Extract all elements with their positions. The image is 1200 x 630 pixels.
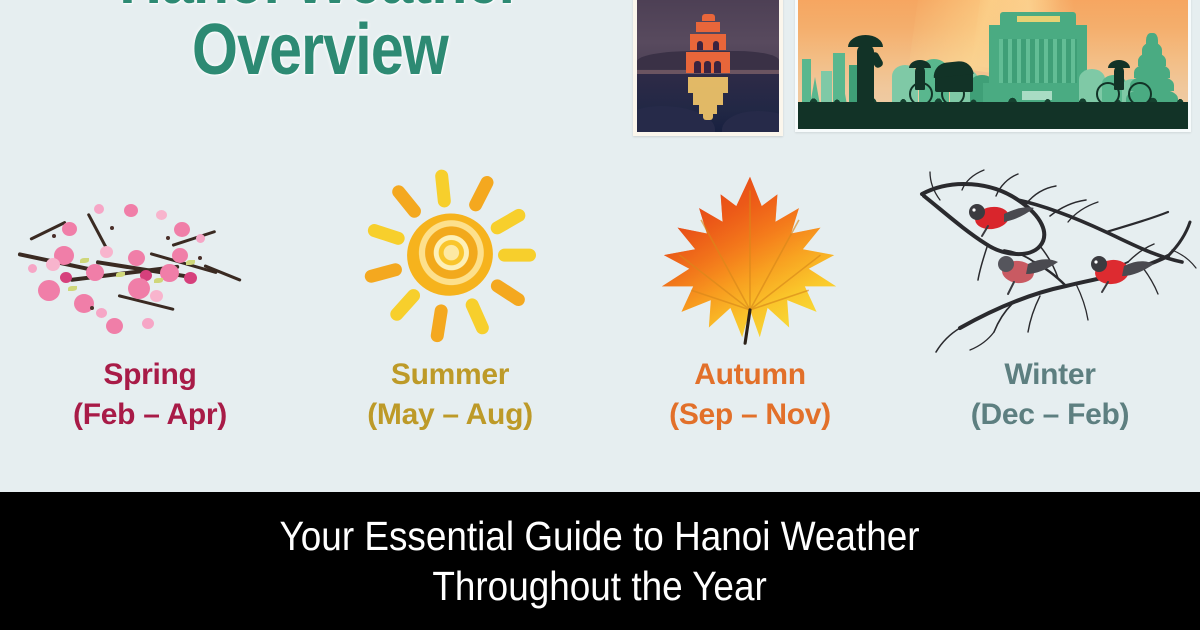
wheel — [1128, 82, 1152, 106]
cyclist-body — [1114, 66, 1124, 90]
season-summer: Summer (May – Aug) — [300, 160, 600, 492]
bud — [52, 234, 56, 238]
season-name: Winter — [1004, 358, 1095, 391]
season-label-autumn: Autumn (Sep – Nov) — [669, 355, 831, 434]
season-months: (Feb – Apr) — [73, 395, 227, 435]
mausoleum-columns — [999, 39, 1077, 83]
poster-title-line-2: Overview — [74, 15, 566, 86]
leaf — [68, 286, 77, 291]
cyclist-figure — [1094, 60, 1156, 106]
sun-ray — [488, 276, 527, 308]
reflection-band — [703, 114, 713, 120]
conical-hat-icon — [909, 60, 931, 68]
blossom — [106, 318, 123, 334]
blossom — [142, 318, 154, 329]
blossom — [60, 272, 72, 283]
conical-hat-icon — [1108, 60, 1130, 68]
season-name: Summer — [391, 358, 509, 391]
hanoi-skyline-illustration — [795, 0, 1191, 132]
season-months: (May – Aug) — [367, 395, 533, 435]
painted-sun — [366, 170, 534, 338]
winter-branch-birds-icon — [900, 160, 1200, 355]
tower-level-2 — [690, 34, 726, 50]
sun-ray — [467, 173, 496, 213]
skyline-scene — [798, 0, 1188, 129]
foreground-ground — [798, 102, 1188, 129]
blossom — [128, 278, 150, 299]
branch — [29, 221, 66, 241]
cherry-blossom-branch-icon — [0, 160, 300, 355]
sun-ray — [430, 303, 449, 343]
caption-line-1: Your Essential Guide to Hanoi Weather — [280, 513, 920, 559]
blossom — [184, 272, 197, 284]
season-months: (Dec – Feb) — [971, 395, 1129, 435]
season-spring: Spring (Feb – Apr) — [0, 160, 300, 492]
sun-ray — [464, 296, 491, 336]
leaf — [186, 260, 195, 265]
tower-window — [697, 41, 703, 50]
pagoda-tier — [1146, 33, 1158, 45]
seasons-row: Spring (Feb – Apr) — [0, 160, 1200, 492]
branch — [203, 264, 241, 282]
leaf — [154, 278, 163, 283]
reflection-band — [699, 105, 717, 114]
tower-arch — [704, 61, 711, 73]
blossom — [100, 246, 113, 258]
blossom — [128, 250, 145, 266]
bud — [90, 306, 94, 310]
tower-arch — [714, 61, 721, 73]
ao-dai-woman-figure — [857, 44, 874, 106]
tower-reflection — [686, 77, 730, 120]
bullfinch-bird — [1091, 256, 1154, 292]
season-months: (Sep – Nov) — [669, 395, 831, 435]
maple-leaf-shape — [650, 165, 850, 351]
sun-ray — [363, 261, 403, 283]
hanoi-weather-poster: Hanoi Weather Overview — [0, 0, 1200, 630]
blossom — [94, 204, 104, 214]
blossom — [174, 222, 190, 237]
blossom — [74, 294, 94, 313]
blossom — [46, 258, 60, 271]
season-name: Spring — [103, 358, 196, 391]
caption-bar: Your Essential Guide to Hanoi Weather Th… — [0, 492, 1200, 630]
caption-text: Your Essential Guide to Hanoi Weather Th… — [244, 511, 956, 611]
cyclo-driver — [915, 66, 925, 90]
leaf — [116, 272, 125, 277]
blossom — [86, 264, 104, 281]
maple-leaf — [650, 165, 850, 351]
sun-icon — [300, 160, 600, 355]
blossom-composition — [0, 160, 300, 355]
mausoleum-plaque — [1017, 16, 1060, 22]
sun-ray — [388, 286, 423, 323]
poster-title: Hanoi Weather Overview — [20, 0, 620, 85]
cyclo-figure — [907, 60, 987, 106]
tower-window — [713, 41, 719, 50]
tower-level-3 — [686, 52, 730, 73]
blossom — [196, 234, 205, 243]
sun-ray — [366, 222, 406, 246]
poster-header: Hanoi Weather Overview — [0, 0, 1200, 160]
season-name: Autumn — [694, 358, 806, 391]
bud — [198, 256, 202, 260]
maple-leaf-icon — [600, 160, 900, 355]
bullfinch-bird — [969, 204, 1034, 236]
reflection-band — [688, 77, 728, 93]
tower-finial — [702, 14, 715, 21]
blossom — [28, 264, 37, 273]
blossom — [38, 280, 60, 301]
blossom — [62, 222, 77, 236]
sun-ray — [390, 182, 424, 220]
tower-water-hill-right — [722, 111, 779, 132]
ho-chi-minh-mausoleum — [989, 25, 1087, 105]
leaf — [80, 258, 89, 263]
turtle-tower-photo — [633, 0, 783, 136]
blossom — [156, 210, 167, 220]
blossom — [96, 308, 107, 318]
reflection-band — [693, 93, 723, 105]
sun-ray — [498, 248, 536, 261]
turtle-tower-scene — [637, 0, 779, 132]
season-label-winter: Winter (Dec – Feb) — [971, 355, 1129, 434]
caption-line-2: Throughout the Year — [433, 563, 767, 609]
blossom — [124, 204, 138, 217]
season-autumn: Autumn (Sep – Nov) — [600, 160, 900, 492]
sun-ray — [488, 206, 527, 236]
winter-branches — [900, 160, 1200, 355]
bud — [166, 236, 170, 240]
sun-ray — [435, 168, 452, 207]
branch — [118, 294, 175, 311]
blossom — [150, 290, 163, 302]
season-label-summer: Summer (May – Aug) — [367, 355, 533, 434]
turtle-tower-building — [686, 14, 730, 73]
season-label-spring: Spring (Feb – Apr) — [73, 355, 227, 434]
season-winter: Winter (Dec – Feb) — [900, 160, 1200, 492]
tower-arch — [694, 61, 701, 73]
bud — [110, 226, 114, 230]
tower-level-1 — [696, 22, 720, 32]
